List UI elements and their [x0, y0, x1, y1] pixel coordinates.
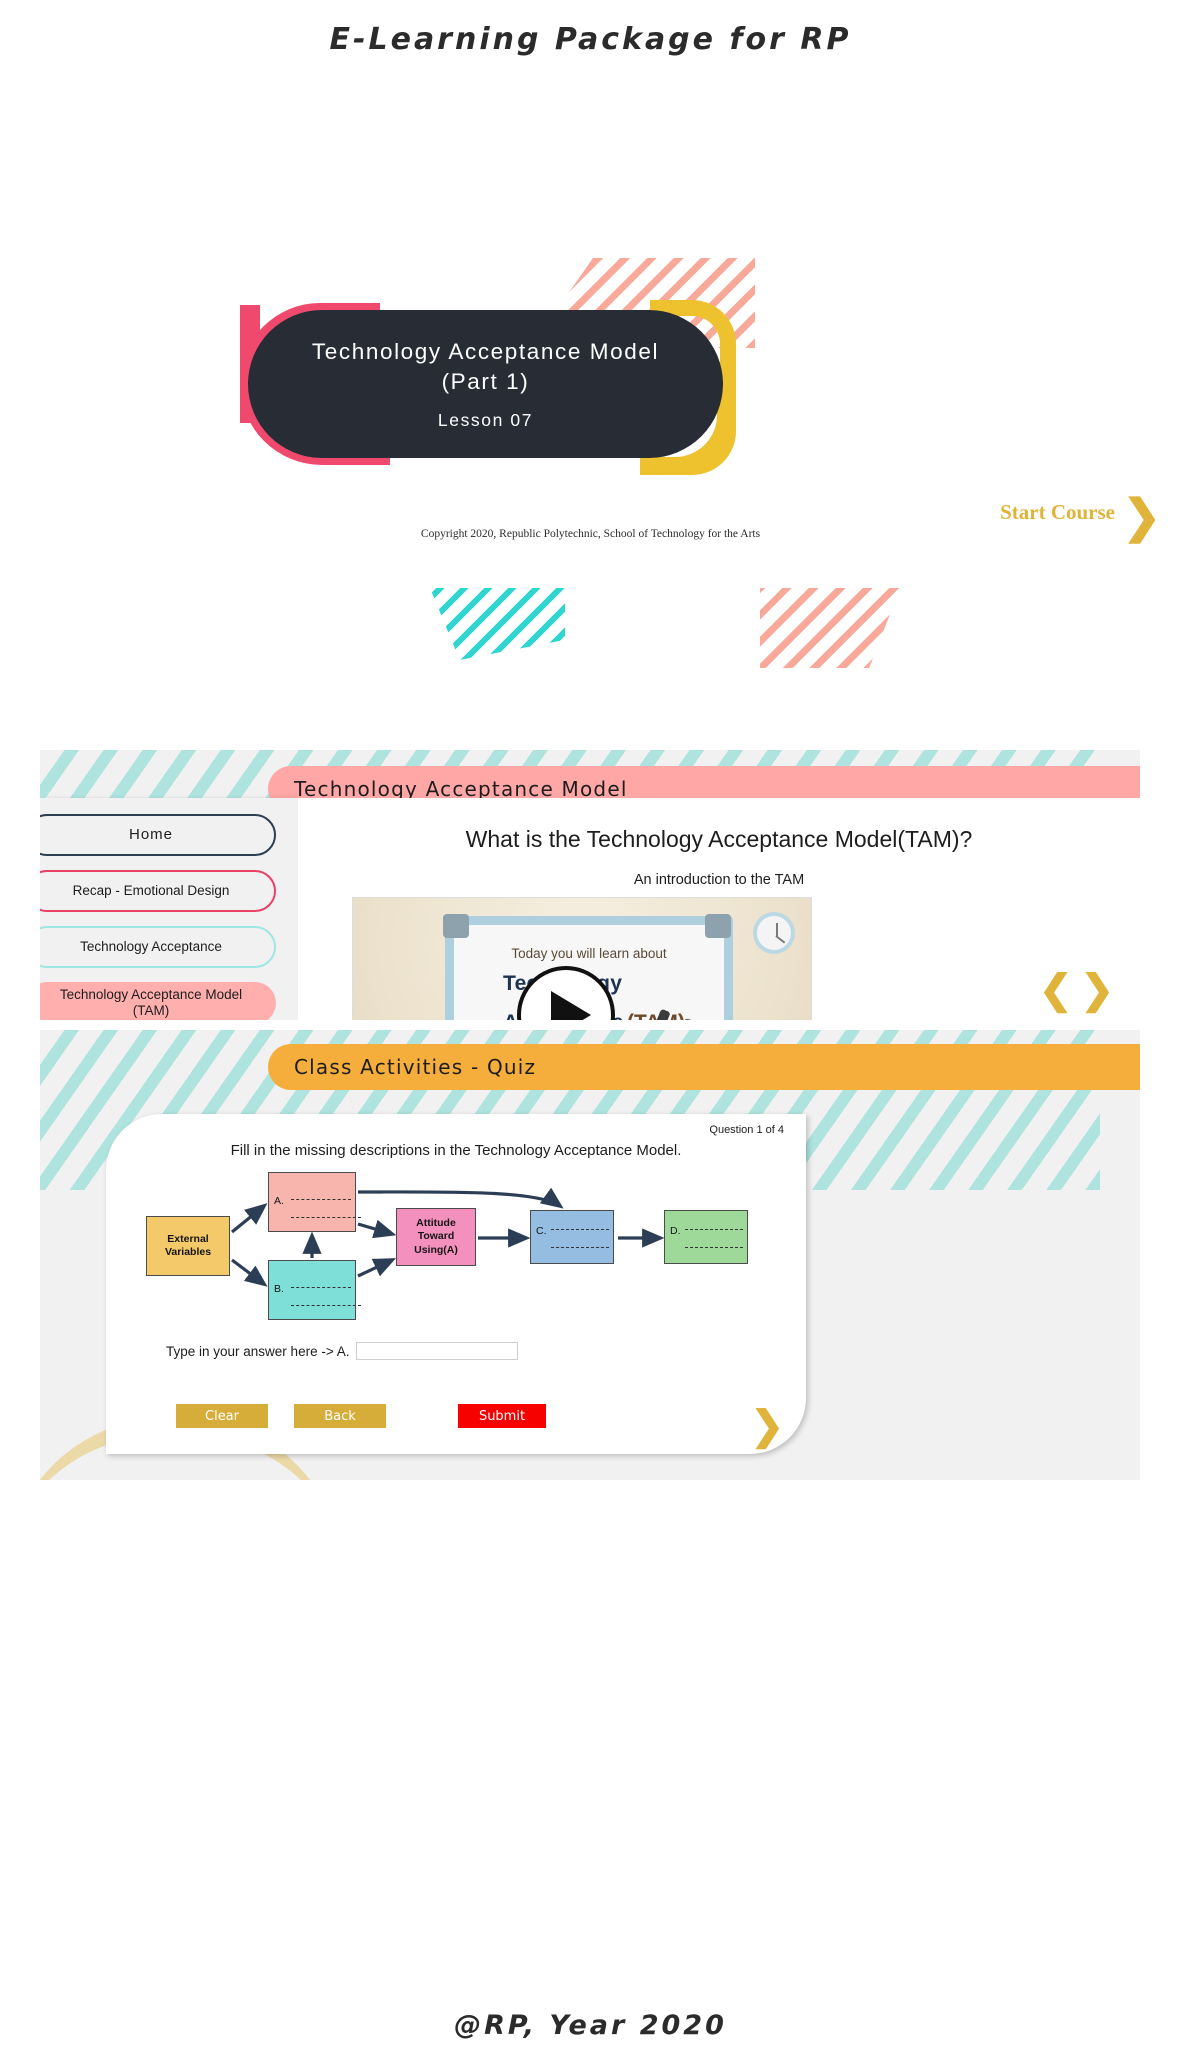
blank-line	[291, 1217, 361, 1218]
content-subheading: An introduction to the TAM	[298, 872, 1140, 888]
slide-nav-arrows[interactable]: ❮❯	[1039, 970, 1122, 1010]
clock-icon	[753, 912, 795, 954]
clear-button[interactable]: Clear	[176, 1404, 268, 1428]
hero-title-line2: (Part 1)	[442, 369, 530, 394]
whiteboard-line-1: Today you will learn about	[453, 946, 725, 961]
decor-stripes-teal	[430, 588, 565, 660]
play-triangle-icon	[551, 991, 591, 1020]
decor-stripes-pink-right	[760, 588, 900, 668]
hero-card-title: Technology Acceptance Model (Part 1)	[312, 337, 659, 396]
sidebar: Home Recap - Emotional Design Technology…	[40, 798, 298, 1020]
quiz-slide: Class Activities - Quiz Question 1 of 4 …	[40, 1030, 1140, 1480]
blank-line	[551, 1229, 609, 1230]
answer-label: Type in your answer here -> A.	[166, 1344, 349, 1359]
copyright-text: Copyright 2020, Republic Polytechnic, Sc…	[0, 528, 1181, 540]
blank-line	[291, 1287, 351, 1288]
answer-row: Type in your answer here -> A.	[166, 1342, 518, 1360]
page-root: E-Learning Package for RP Technology Acc…	[0, 0, 1181, 2067]
hero-card: Technology Acceptance Model (Part 1) Les…	[248, 310, 723, 458]
video-player[interactable]: Today you will learn about Technology Ac…	[353, 898, 811, 1020]
blank-line	[551, 1247, 609, 1248]
diagram-node-d: D.	[664, 1210, 748, 1264]
blank-line	[291, 1199, 351, 1200]
page-footer: @RP, Year 2020	[0, 2010, 1181, 2041]
hero-slide: Technology Acceptance Model (Part 1) Les…	[0, 60, 1181, 730]
whiteboard-clip-icon	[705, 914, 731, 938]
sidebar-item-technology-acceptance[interactable]: Technology Acceptance	[40, 926, 276, 968]
content-card: What is the Technology Acceptance Model(…	[298, 798, 1140, 1020]
diagram-node-a: A.	[268, 1172, 356, 1232]
quiz-next-icon[interactable]: ❯	[750, 1406, 784, 1446]
nav-next-icon[interactable]: ❯	[1080, 968, 1122, 1012]
sidebar-item-tam[interactable]: Technology Acceptance Model (TAM)	[40, 982, 276, 1020]
sidebar-item-recap[interactable]: Recap - Emotional Design	[40, 870, 276, 912]
blank-line	[685, 1229, 743, 1230]
content-heading: What is the Technology Acceptance Model(…	[298, 826, 1140, 853]
hero-lesson-label: Lesson 07	[438, 410, 533, 431]
quiz-banner: Class Activities - Quiz	[268, 1044, 1140, 1090]
nav-prev-icon[interactable]: ❮	[1039, 968, 1081, 1012]
quiz-card: Question 1 of 4 Fill in the missing desc…	[106, 1114, 806, 1454]
answer-input[interactable]	[356, 1342, 518, 1360]
diagram-node-a-label: A.	[274, 1195, 284, 1208]
diagram-node-attitude: Attitude Toward Using(A)	[396, 1208, 476, 1266]
back-button[interactable]: Back	[294, 1404, 386, 1428]
diagram-node-b-label: B.	[274, 1283, 284, 1296]
submit-button[interactable]: Submit	[458, 1404, 546, 1428]
sidebar-item-home[interactable]: Home	[40, 814, 276, 856]
diagram-node-c: C.	[530, 1210, 614, 1264]
quiz-prompt: Fill in the missing descriptions in the …	[106, 1142, 806, 1159]
whiteboard-clip-icon	[443, 914, 469, 938]
blank-line	[685, 1247, 743, 1248]
start-course-button[interactable]: Start Course	[1000, 500, 1115, 525]
diagram-node-b: B.	[268, 1260, 356, 1320]
blank-line	[291, 1305, 361, 1306]
page-title: E-Learning Package for RP	[0, 22, 1181, 57]
tam-diagram: External Variables A. B. Attitude Toward…	[146, 1172, 766, 1322]
hero-title-line1: Technology Acceptance Model	[312, 339, 659, 364]
diagram-node-c-label: C.	[536, 1225, 547, 1238]
diagram-node-d-label: D.	[670, 1225, 681, 1238]
content-slide: Technology Acceptance Model Home Recap -…	[40, 750, 1140, 1020]
question-counter: Question 1 of 4	[709, 1124, 784, 1136]
slide2-body: Home Recap - Emotional Design Technology…	[40, 750, 1140, 1020]
diagram-node-external-variables: External Variables	[146, 1216, 230, 1276]
